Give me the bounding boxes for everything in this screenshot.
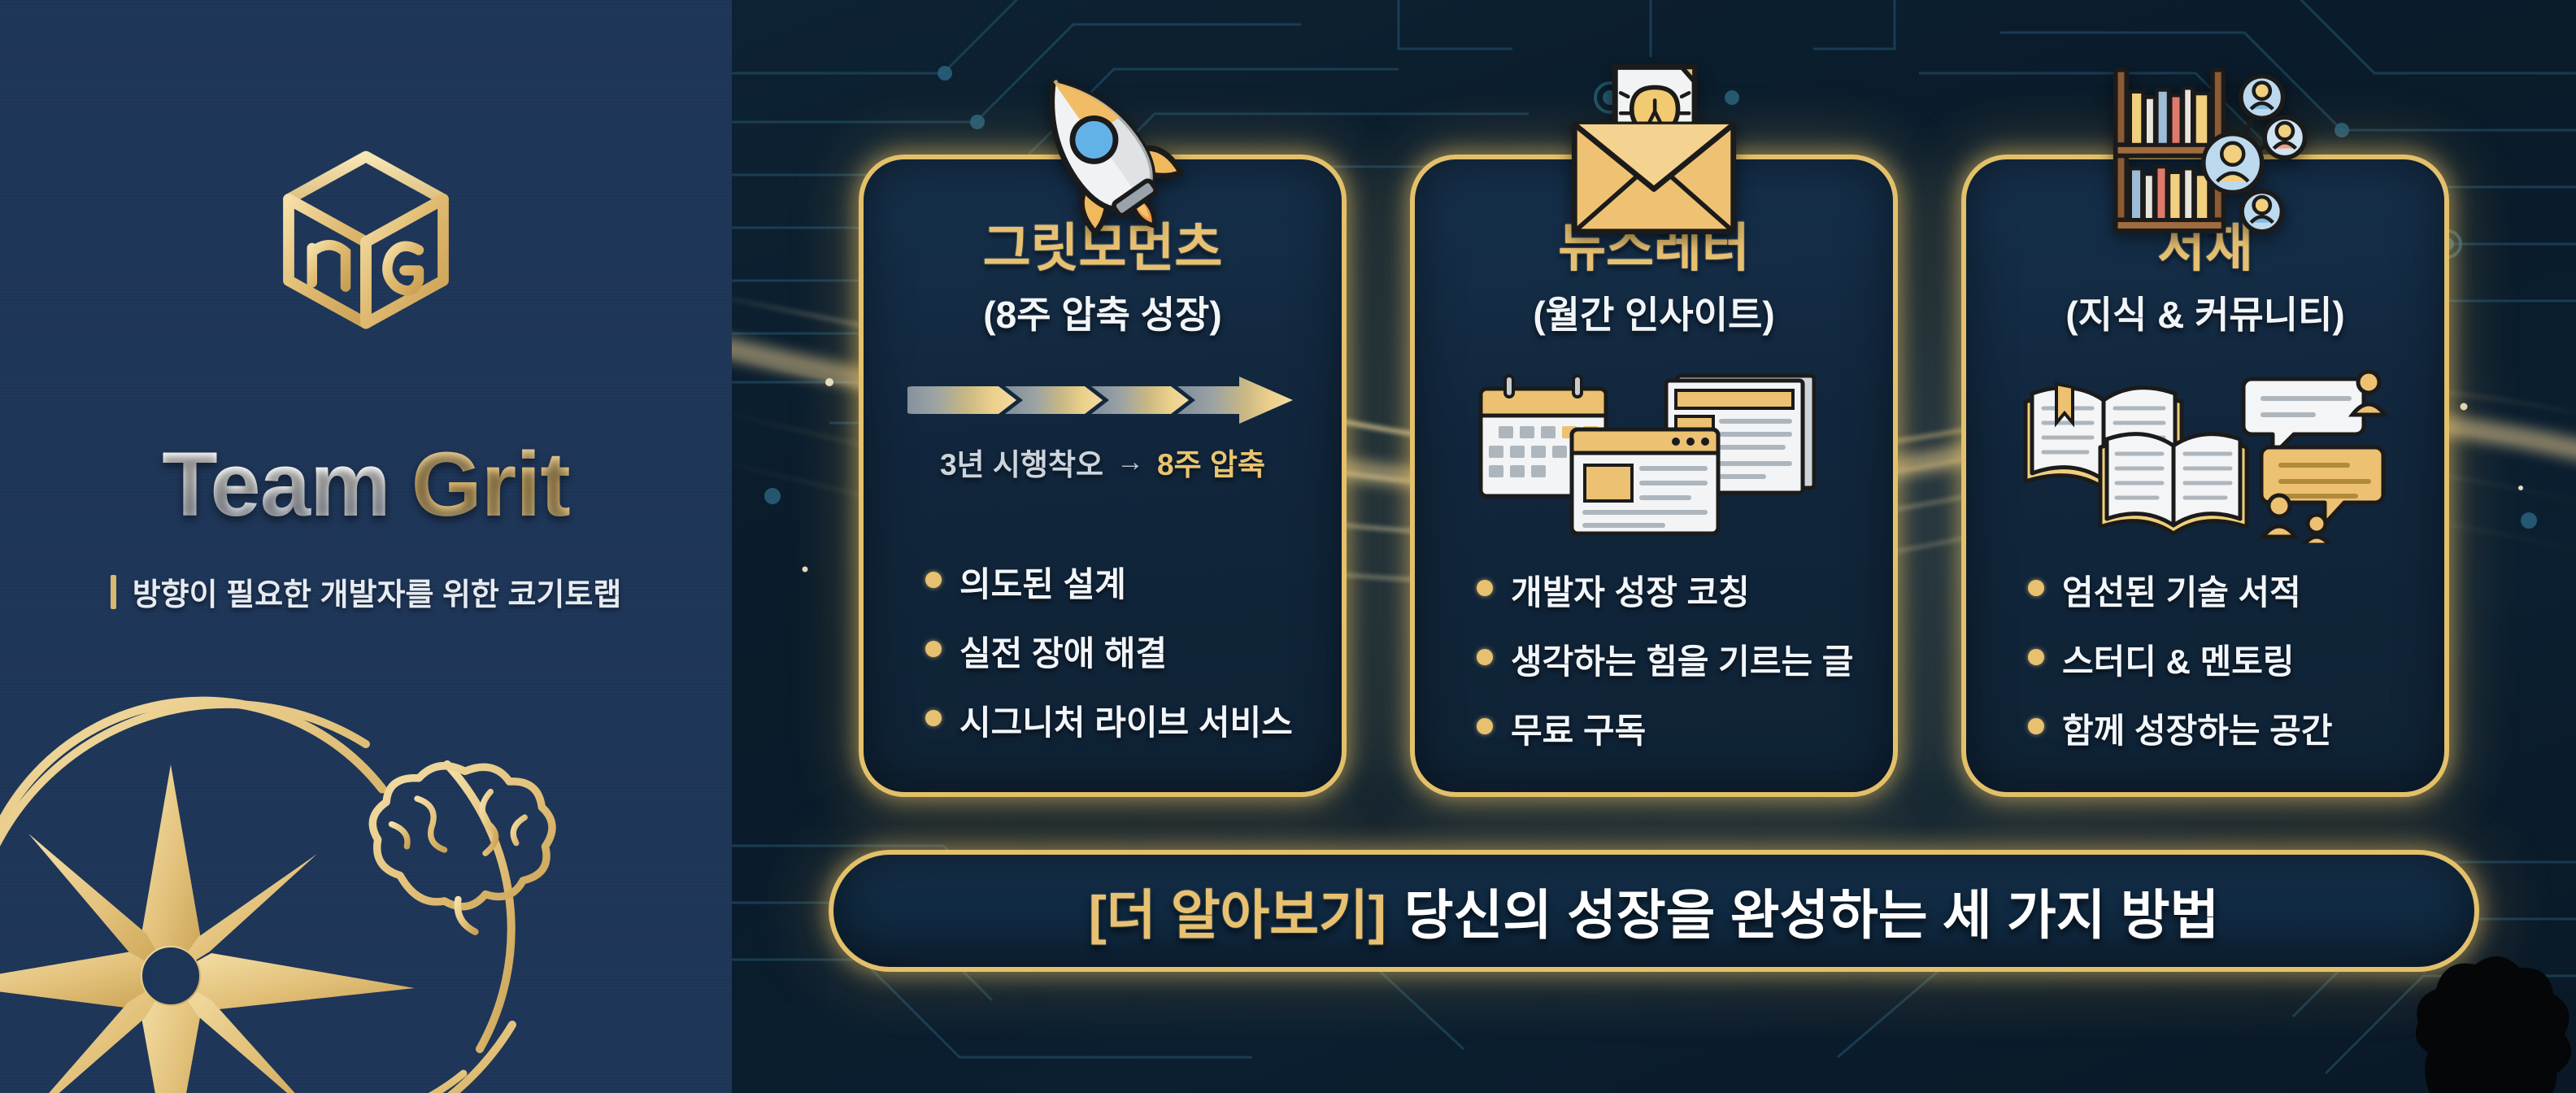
bullet-text: 무료 구독	[1511, 703, 1646, 753]
card-bullets: 의도된 설계 실전 장애 해결 시그니처 라이브 서비스	[893, 557, 1312, 745]
bullet-text: 스터디 & 멘토링	[2062, 634, 2295, 684]
compass-rose-icon	[0, 667, 732, 1093]
open-books-chat-icon	[2014, 369, 2396, 544]
isometric-cube-g-logo-icon	[264, 138, 468, 342]
list-item: 실전 장애 해결	[925, 626, 1312, 676]
bookshelf-people-icon	[1966, 59, 2444, 246]
bullet-dot-icon	[2028, 580, 2044, 596]
card-bullets: 개발자 성장 코칭 생각하는 힘을 기르는 글 무료 구독	[1444, 565, 1864, 753]
brand-tagline: 방향이 필요한 개발자를 위한 코기토랩	[0, 569, 732, 614]
card-mid-graphic: 3년 시행착오 → 8주 압축	[893, 375, 1312, 538]
card-library[interactable]: 서재 (지식 & 커뮤니티)	[1961, 155, 2449, 797]
list-item: 개발자 성장 코칭	[1477, 565, 1864, 615]
bullet-dot-icon	[1477, 649, 1493, 665]
brand-title-first: Team	[162, 433, 389, 535]
caption-to: 8주 압축	[1157, 440, 1265, 484]
card-bullets: 엄선된 기술 서적 스터디 & 멘토링 함께 성장하는 공간	[1995, 565, 2415, 753]
brand-panel: TeamGrit 방향이 필요한 개발자를 위한 코기토랩	[0, 0, 732, 1093]
list-item: 엄선된 기술 서적	[2028, 565, 2415, 615]
bullet-dot-icon	[1477, 580, 1493, 596]
bullet-dot-icon	[925, 710, 942, 726]
list-item: 함께 성장하는 공간	[2028, 703, 2415, 753]
bullet-dot-icon	[925, 572, 942, 588]
bullet-dot-icon	[1477, 718, 1493, 734]
poster-canvas: TeamGrit 방향이 필요한 개발자를 위한 코기토랩	[0, 0, 2576, 1093]
list-item: 시그니처 라이브 서비스	[925, 695, 1312, 745]
arrow-caption: 3년 시행착오 → 8주 압축	[940, 440, 1265, 484]
envelope-lightbulb-icon	[1415, 59, 1893, 246]
card-mid-graphic	[1444, 367, 1864, 546]
bullet-text: 의도된 설계	[959, 557, 1126, 607]
cta-text: 당신의 성장을 완성하는 세 가지 방법	[1404, 872, 2219, 950]
caption-arrow-icon: →	[1116, 446, 1144, 478]
tagline-bar-icon	[111, 575, 116, 609]
card-mid-graphic	[1995, 367, 2415, 546]
feature-cards: 그릿모먼츠 (8주 압축 성장)	[732, 155, 2576, 797]
bullet-text: 생각하는 힘을 기르는 글	[1511, 634, 1853, 684]
card-grit-moments[interactable]: 그릿모먼츠 (8주 압축 성장)	[859, 155, 1347, 797]
card-subtitle: (지식 & 커뮤니티)	[1995, 285, 2415, 339]
caption-from: 3년 시행착오	[940, 440, 1103, 484]
list-item: 무료 구독	[1477, 703, 1864, 753]
list-item: 스터디 & 멘토링	[2028, 634, 2415, 684]
bullet-text: 실전 장애 해결	[959, 626, 1167, 676]
brain-icon	[372, 766, 552, 932]
card-subtitle: (8주 압축 성장)	[893, 285, 1312, 339]
bullet-dot-icon	[2028, 649, 2044, 665]
main-area: 그릿모먼츠 (8주 압축 성장)	[732, 0, 2576, 1093]
cta-banner[interactable]: [더 알아보기] 당신의 성장을 완성하는 세 가지 방법	[829, 850, 2479, 972]
bullet-text: 함께 성장하는 공간	[2062, 703, 2332, 753]
list-item: 의도된 설계	[925, 557, 1312, 607]
bullet-dot-icon	[2028, 718, 2044, 734]
brand-logo	[0, 138, 732, 342]
bullet-text: 시그니처 라이브 서비스	[959, 695, 1293, 745]
compass-brain-illustration	[0, 667, 732, 1093]
bullet-text: 개발자 성장 코칭	[1511, 565, 1750, 615]
progress-arrow-icon	[907, 375, 1298, 425]
bullet-dot-icon	[925, 641, 942, 657]
card-subtitle: (월간 인사이트)	[1444, 285, 1864, 339]
list-item: 생각하는 힘을 기르는 글	[1477, 634, 1864, 684]
brand-title: TeamGrit	[0, 439, 732, 530]
brand-title-second: Grit	[411, 433, 570, 535]
calendar-newspaper-browser-icon	[1471, 371, 1837, 542]
tagline-text: 방향이 필요한 개발자를 위한 코기토랩	[133, 569, 622, 614]
cta-label: [더 알아보기]	[1089, 872, 1386, 950]
bullet-text: 엄선된 기술 서적	[2062, 565, 2301, 615]
card-newsletter[interactable]: 뉴스레터 (월간 인사이트)	[1410, 155, 1898, 797]
rocket-icon	[864, 59, 1342, 246]
